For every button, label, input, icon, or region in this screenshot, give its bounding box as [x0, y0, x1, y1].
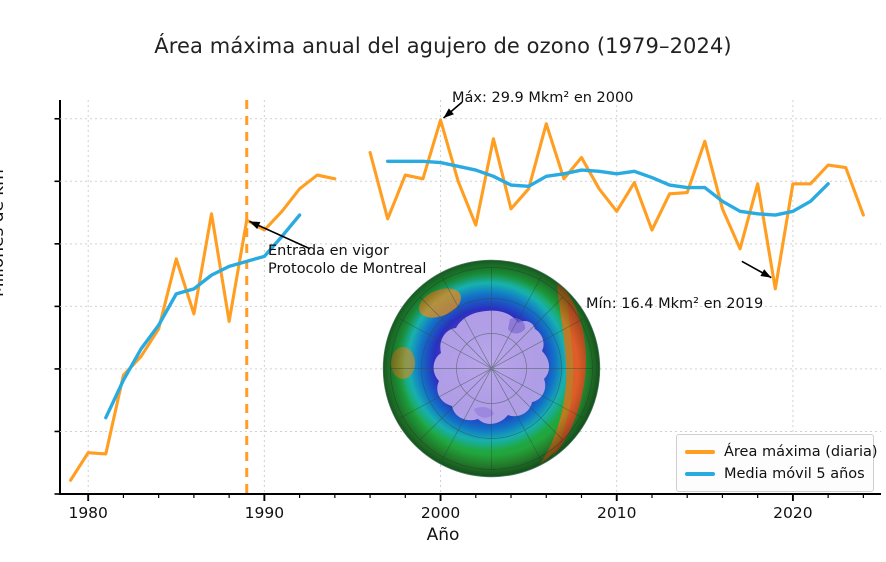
ozone-hole-globe-image: [382, 259, 601, 478]
legend-swatch-blue: [685, 472, 715, 476]
x-tick-label: 2010: [597, 504, 636, 522]
legend-item-area-maxima[interactable]: Área máxima (diaria): [685, 441, 865, 463]
x-axis-label: Año: [0, 525, 886, 545]
x-tick-label: 2020: [773, 504, 812, 522]
legend-label-area-maxima: Área máxima (diaria): [724, 444, 878, 460]
max-annotation: Máx: 29.9 Mkm² en 2000: [452, 90, 633, 108]
min-annotation: Mín: 16.4 Mkm² en 2019: [586, 296, 763, 314]
chart-legend[interactable]: Área máxima (diaria) Media móvil 5 años: [676, 434, 874, 492]
x-tick-label: 1990: [245, 504, 284, 522]
legend-label-media-movil: Media móvil 5 años: [724, 466, 865, 482]
protocol-annotation-line2: Protocolo de Montreal: [268, 261, 426, 279]
page-title: Área máxima anual del agujero de ozono (…: [0, 34, 886, 58]
protocol-annotation-line1: Entrada en vigor: [268, 243, 426, 261]
min-annotation-arrow: [742, 261, 771, 277]
x-tick-label: 1980: [68, 504, 107, 522]
protocol-annotation: Entrada en vigor Protocolo de Montreal: [268, 243, 426, 278]
legend-item-media-movil[interactable]: Media móvil 5 años: [685, 463, 865, 485]
ozone-hole-chart-figure: Área máxima anual del agujero de ozono (…: [0, 0, 886, 562]
legend-swatch-orange: [685, 450, 715, 454]
y-axis-label: Millones de km²: [0, 162, 8, 297]
x-tick-label: 2000: [421, 504, 460, 522]
